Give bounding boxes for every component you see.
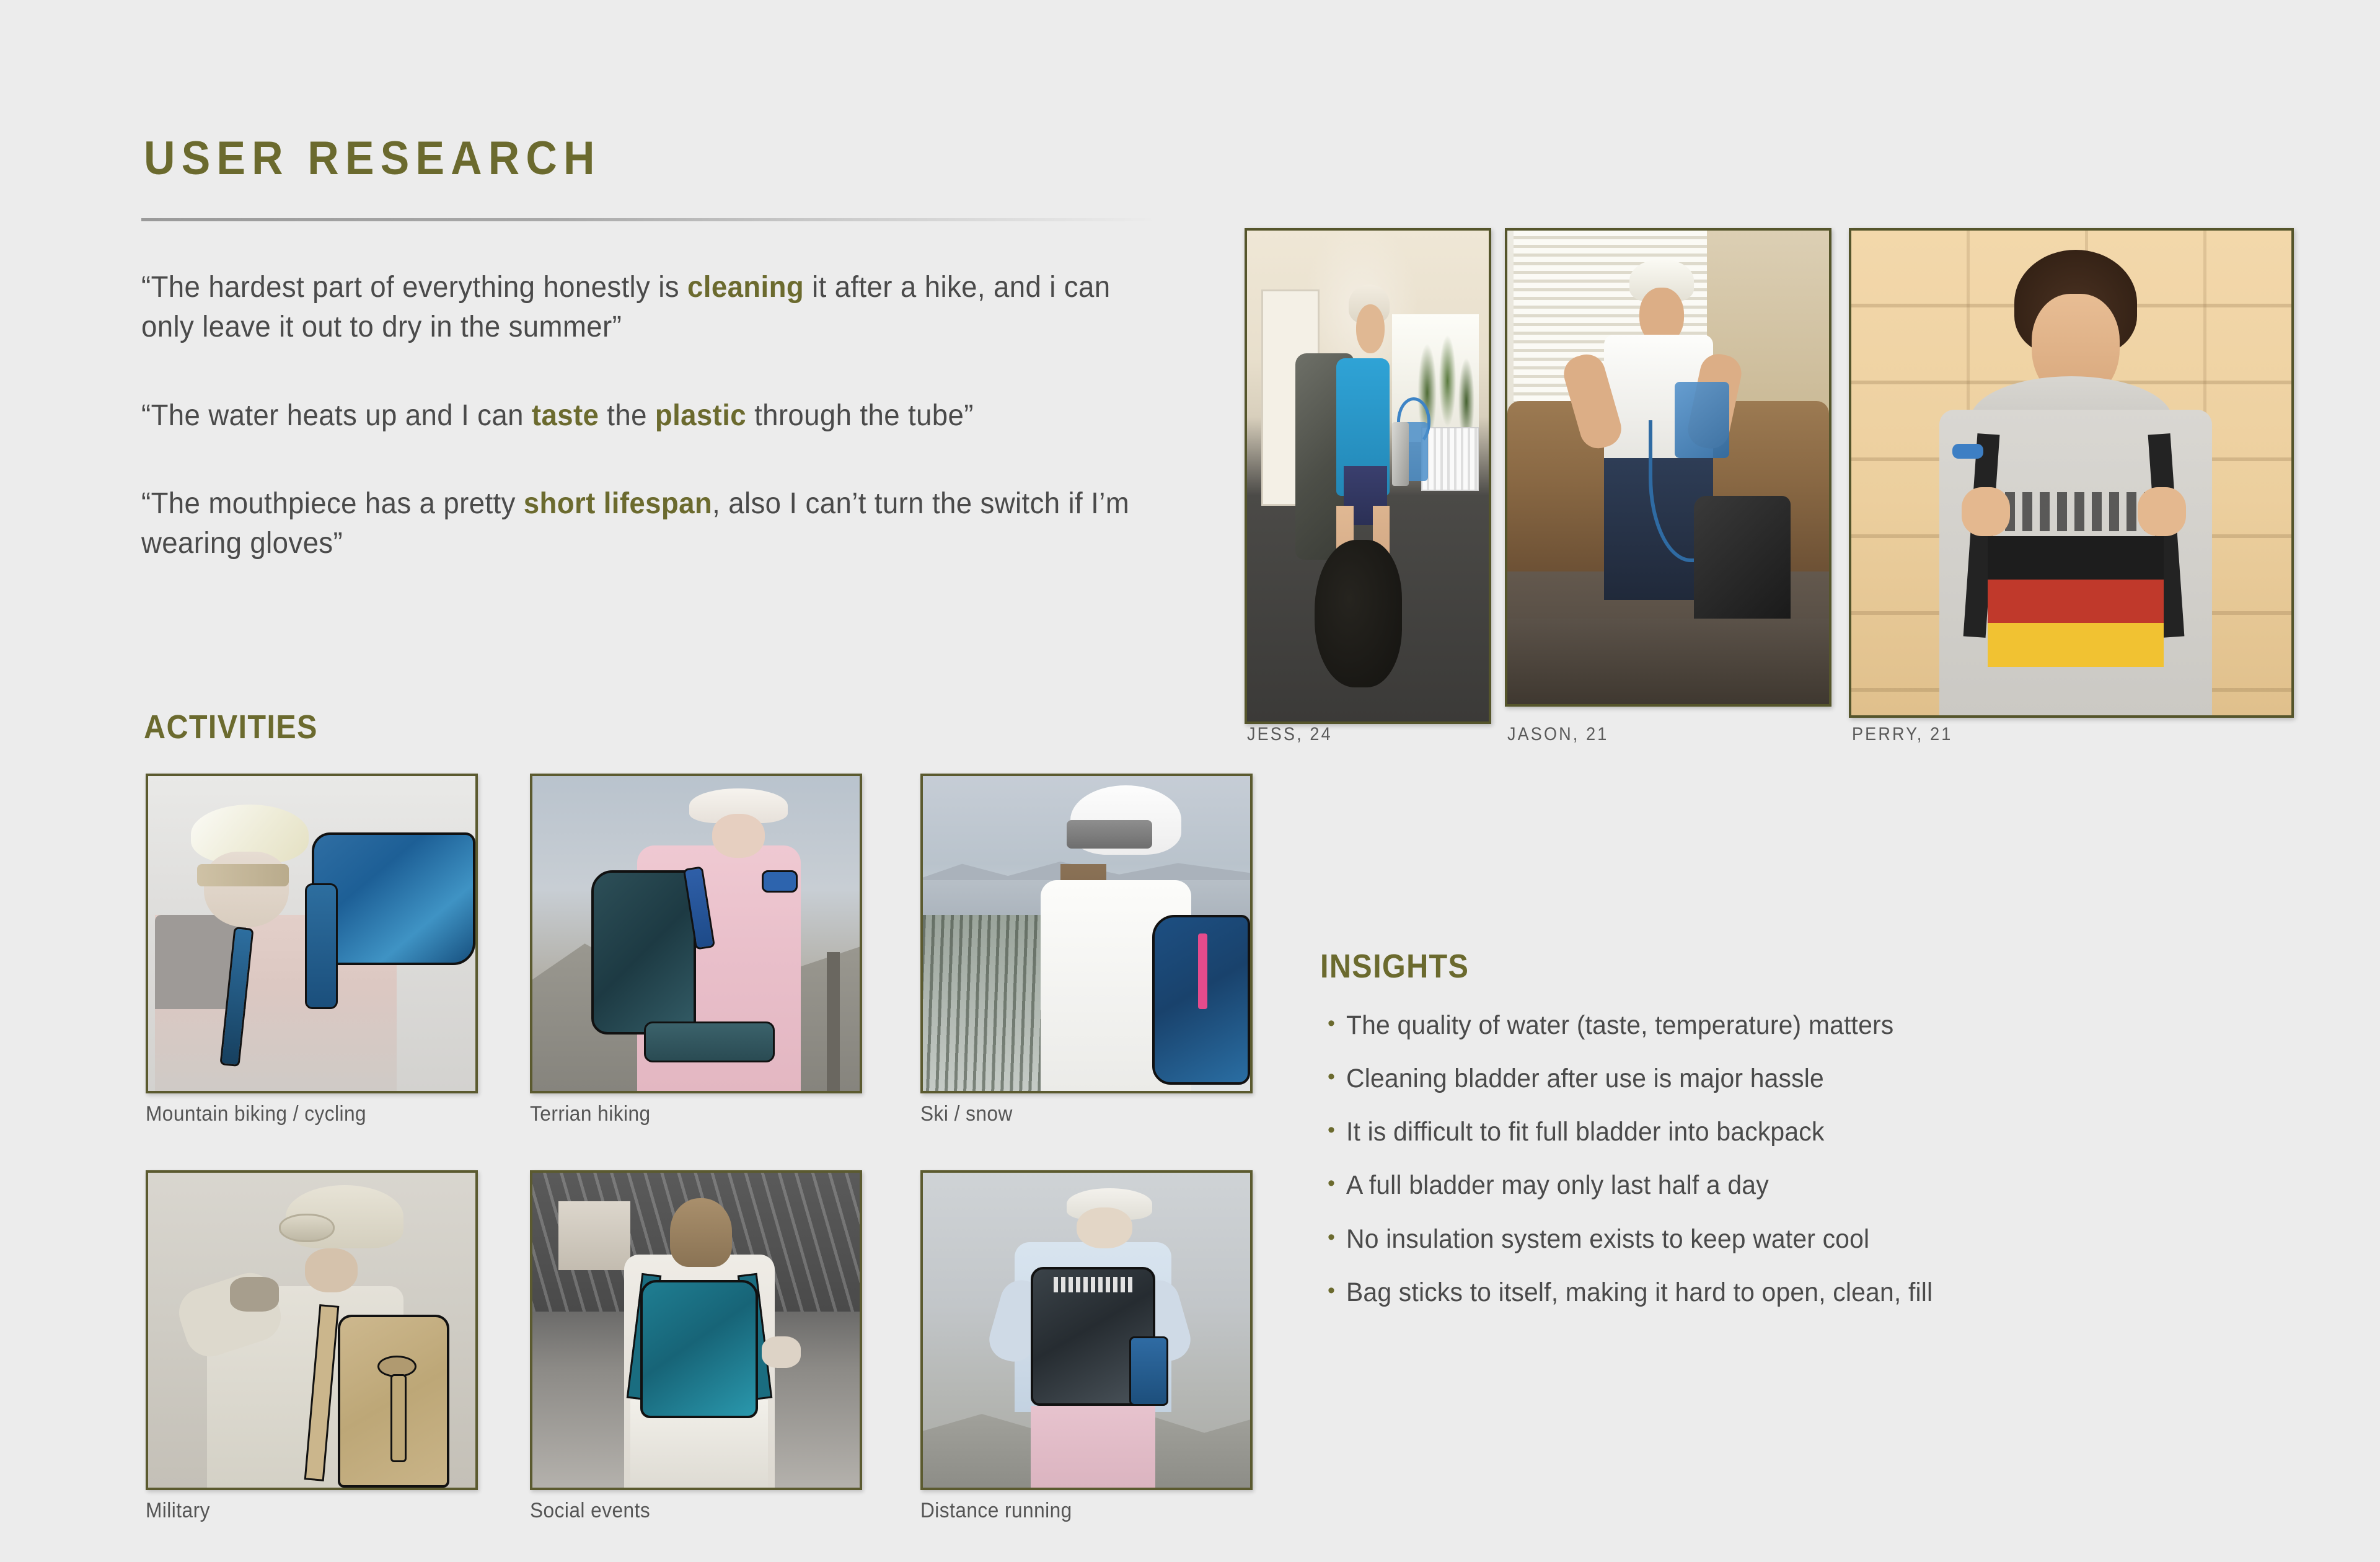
photo-jess xyxy=(1245,228,1491,724)
caption-jess: JESS, 24 xyxy=(1247,724,1333,745)
bullet-icon: • xyxy=(1328,1224,1335,1251)
quote-text: the xyxy=(599,399,655,432)
photo-perry xyxy=(1849,228,2294,718)
insight-item: •It is difficult to fit full bladder int… xyxy=(1328,1117,2294,1147)
activity-card-ski-snow[interactable]: Ski / snow xyxy=(920,774,1253,1126)
activity-card-social-events[interactable]: Social events xyxy=(530,1170,862,1523)
slide-canvas: USER RESEARCH “The hardest part of every… xyxy=(0,0,2380,1562)
photo-jason xyxy=(1505,228,1831,707)
caption-jason: JASON, 21 xyxy=(1507,724,1608,745)
activity-card-terrian-hiking[interactable]: Terrian hiking xyxy=(530,774,862,1126)
activities-heading: ACTIVITIES xyxy=(144,708,318,746)
quote-text: “The water heats up and I can xyxy=(141,399,532,432)
activity-photo-distance-running xyxy=(920,1170,1253,1490)
insight-item: •A full bladder may only last half a day xyxy=(1328,1170,2294,1200)
page-title: USER RESEARCH xyxy=(144,131,601,185)
insight-text: It is difficult to fit full bladder into… xyxy=(1346,1117,1824,1147)
activity-label-military: Military xyxy=(146,1499,454,1523)
activity-photo-mountain-biking xyxy=(146,774,478,1093)
quote-plastic-taste: “The water heats up and I can taste the … xyxy=(141,396,1166,436)
quote-highlight: taste xyxy=(532,399,599,432)
insights-heading: INSIGHTS xyxy=(1320,947,1469,986)
quote-text: through the tube” xyxy=(746,399,974,432)
insight-item: •Bag sticks to itself, making it hard to… xyxy=(1328,1277,2294,1307)
insight-item: •Cleaning bladder after use is major has… xyxy=(1328,1064,2294,1093)
insight-item: •The quality of water (taste, temperatur… xyxy=(1328,1010,2294,1040)
interviewee-card-jess[interactable] xyxy=(1245,228,1491,724)
activity-label-terrian-hiking: Terrian hiking xyxy=(530,1102,839,1126)
bullet-icon: • xyxy=(1328,1117,1335,1144)
activity-photo-ski-snow xyxy=(920,774,1253,1093)
title-divider xyxy=(141,218,1158,221)
activity-label-ski-snow: Ski / snow xyxy=(920,1102,1229,1126)
caption-perry: PERRY, 21 xyxy=(1852,724,1952,745)
insights-list: •The quality of water (taste, temperatur… xyxy=(1328,1010,2294,1331)
quote-text: “The mouthpiece has a pretty xyxy=(141,487,524,520)
insight-item: •No insulation system exists to keep wat… xyxy=(1328,1224,2294,1254)
bullet-icon: • xyxy=(1328,1064,1335,1090)
quote-mouthpiece: “The mouthpiece has a pretty short lifes… xyxy=(141,484,1166,564)
insight-text: A full bladder may only last half a day xyxy=(1346,1170,1769,1200)
interviewee-card-perry[interactable] xyxy=(1849,228,2294,718)
activity-photo-military xyxy=(146,1170,478,1490)
insight-text: No insulation system exists to keep wate… xyxy=(1346,1224,1869,1254)
bullet-icon: • xyxy=(1328,1170,1335,1197)
insight-text: The quality of water (taste, temperature… xyxy=(1346,1010,1893,1040)
insight-text: Bag sticks to itself, making it hard to … xyxy=(1346,1277,1933,1307)
quote-cleaning: “The hardest part of everything honestly… xyxy=(141,268,1166,348)
quote-highlight: cleaning xyxy=(687,271,804,304)
bullet-icon: • xyxy=(1328,1277,1335,1304)
activity-photo-terrian-hiking xyxy=(530,774,862,1093)
interviewee-card-jason[interactable] xyxy=(1505,228,1831,707)
quote-text: “The hardest part of everything honestly… xyxy=(141,271,687,304)
quote-highlight: plastic xyxy=(655,399,746,432)
quote-highlight: short lifespan xyxy=(524,487,712,520)
activity-photo-social-events xyxy=(530,1170,862,1490)
activity-label-mountain-biking: Mountain biking / cycling xyxy=(146,1102,454,1126)
bullet-icon: • xyxy=(1328,1010,1335,1037)
activity-card-mountain-biking[interactable]: Mountain biking / cycling xyxy=(146,774,478,1126)
activity-card-distance-running[interactable]: Distance running xyxy=(920,1170,1253,1523)
quotes-group: “The hardest part of everything honestly… xyxy=(141,268,1220,564)
activity-card-military[interactable]: Military xyxy=(146,1170,478,1523)
activity-label-social-events: Social events xyxy=(530,1499,839,1523)
insight-text: Cleaning bladder after use is major hass… xyxy=(1346,1064,1824,1093)
activity-label-distance-running: Distance running xyxy=(920,1499,1229,1523)
